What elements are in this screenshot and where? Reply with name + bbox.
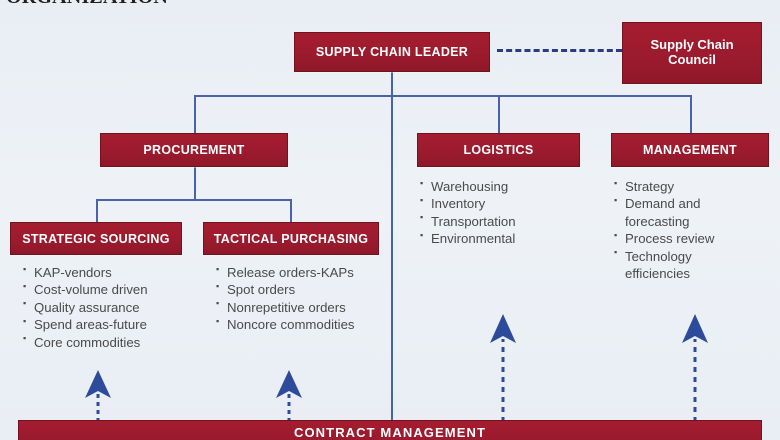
list-item: Spot orders [216,281,391,298]
list-item: Inventory [420,195,580,212]
page-title: ORGANIZATION [6,0,168,9]
node-tactical-purchasing[interactable]: TACTICAL PURCHASING [203,222,379,255]
list-item: Core commodities [23,334,193,351]
node-tactical-purchasing-label: TACTICAL PURCHASING [214,232,369,246]
org-chart: ORGANIZATION SUPPLY CHAIN LEADER Supply … [0,0,780,440]
connector-drop-tactical-purchasing [290,199,292,223]
list-strategic-sourcing: KAP-vendors Cost-volume driven Quality a… [23,264,193,351]
arrow-up-icon [679,312,711,422]
connector-leader-down [391,72,393,96]
connector-drop-strategic-sourcing [96,199,98,223]
arrow-up-icon [273,368,305,422]
list-item: Warehousing [420,178,580,195]
connector-drop-procurement [194,95,196,134]
connector-center-spine [391,95,393,421]
connector-dashed-council [497,49,622,52]
node-procurement[interactable]: PROCUREMENT [100,133,288,167]
node-supply-chain-council-label-1: Supply Chain [650,38,733,53]
node-supply-chain-leader-label: SUPPLY CHAIN LEADER [316,45,468,59]
list-management: Strategy Demand and forecasting Process … [614,178,764,283]
node-contract-management[interactable]: CONTRACT MANAGEMENT [18,420,762,440]
list-tactical-purchasing: Release orders-KAPs Spot orders Nonrepet… [216,264,391,334]
connector-drop-management [690,95,692,134]
node-supply-chain-council-label-2: Council [668,53,716,68]
list-item: Cost-volume driven [23,281,193,298]
connector-drop-logistics [498,95,500,134]
connector-procurement-down [194,167,196,200]
node-supply-chain-leader[interactable]: SUPPLY CHAIN LEADER [294,32,490,72]
list-item: Technology efficiencies [614,248,764,283]
list-item: Noncore commodities [216,316,391,333]
node-procurement-label: PROCUREMENT [143,143,244,157]
list-item: Nonrepetitive orders [216,299,391,316]
node-management[interactable]: MANAGEMENT [611,133,769,167]
node-strategic-sourcing-label: STRATEGIC SOURCING [22,232,170,246]
arrow-up-icon [82,368,114,422]
list-item: Environmental [420,230,580,247]
arrow-up-icon [487,312,519,422]
node-contract-management-label: CONTRACT MANAGEMENT [294,425,486,440]
list-item: Transportation [420,213,580,230]
connector-procurement-horizontal [96,199,292,201]
list-item: Spend areas-future [23,316,193,333]
list-item: KAP-vendors [23,264,193,281]
list-item: Release orders-KAPs [216,264,391,281]
node-management-label: MANAGEMENT [643,143,737,157]
node-supply-chain-council[interactable]: Supply Chain Council [622,22,762,84]
list-item: Demand and forecasting [614,195,764,230]
node-logistics[interactable]: LOGISTICS [417,133,580,167]
node-logistics-label: LOGISTICS [463,143,533,157]
list-logistics: Warehousing Inventory Transportation Env… [420,178,580,248]
connector-main-horizontal [194,95,692,97]
list-item: Process review [614,230,764,247]
list-item: Strategy [614,178,764,195]
list-item: Quality assurance [23,299,193,316]
node-strategic-sourcing[interactable]: STRATEGIC SOURCING [10,222,182,255]
